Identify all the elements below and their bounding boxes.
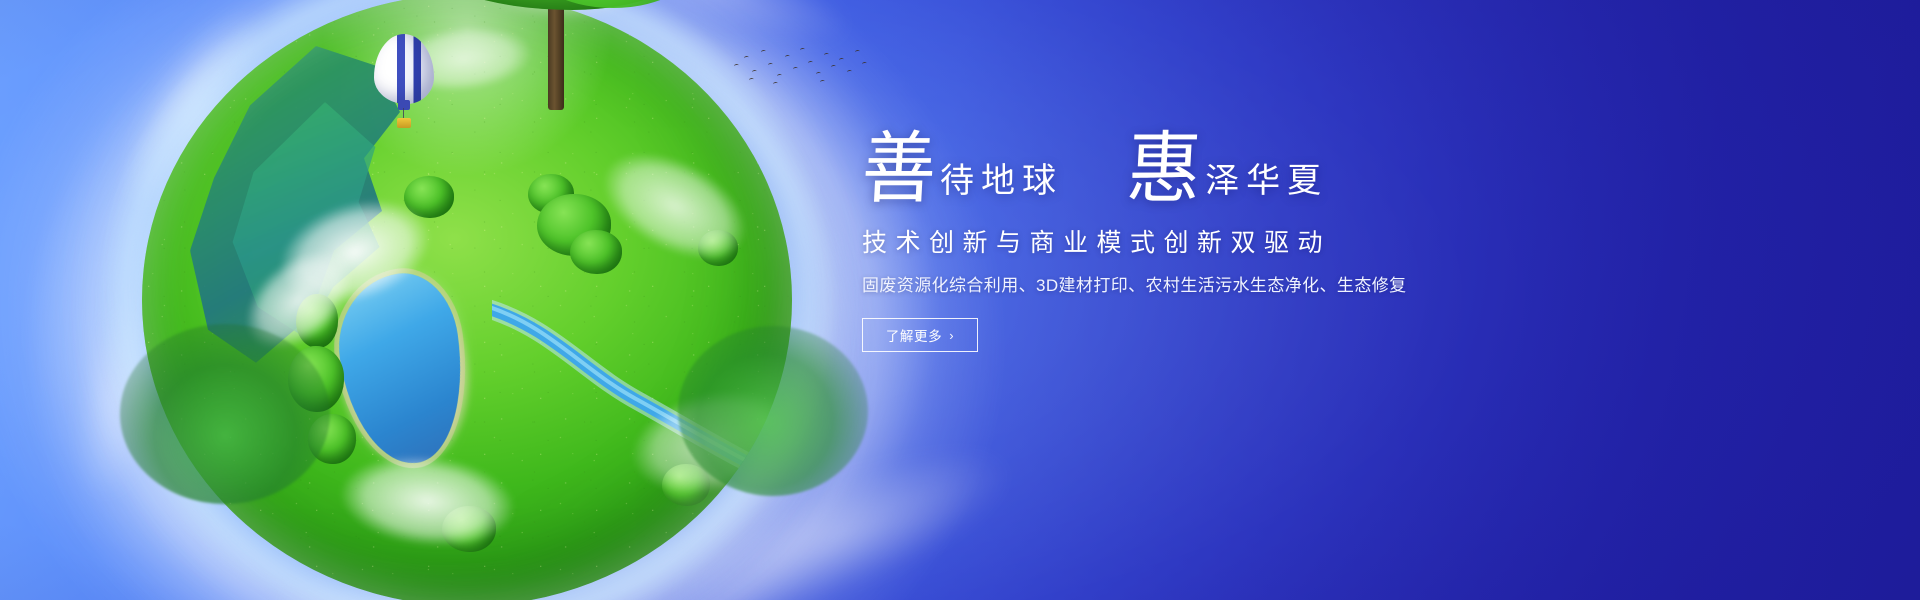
hero-headline: 善待地球 惠泽华夏 xyxy=(862,128,1642,220)
headline-segment-one: 善待地球 xyxy=(862,128,1063,210)
tree-canopy xyxy=(120,324,330,504)
globe-artwork xyxy=(142,0,792,600)
hero-description: 固废资源化综合利用、3D建材打印、农村生活污水生态净化、生态修复 xyxy=(862,273,1642,299)
learn-more-button[interactable]: 了解更多 › xyxy=(862,318,978,352)
tree-trunk xyxy=(548,0,564,110)
headline-segment-two: 惠泽华夏 xyxy=(1127,128,1328,210)
headline-calligraphy-char: 惠 xyxy=(1125,126,1204,213)
birds-flock-icon xyxy=(730,44,870,90)
learn-more-label: 了解更多 xyxy=(886,325,942,345)
bush-icon xyxy=(570,230,622,274)
headline-segment-rest: 待地球 xyxy=(940,128,1063,200)
silhouette-tree-icon xyxy=(678,326,868,556)
big-tree-icon xyxy=(410,0,710,132)
tree-canopy xyxy=(678,326,868,496)
balloon-envelope xyxy=(374,34,434,104)
balloon-basket xyxy=(397,118,411,128)
chevron-right-icon: › xyxy=(949,328,954,343)
hot-air-balloon-icon xyxy=(374,34,434,126)
headline-segment-rest: 泽华夏 xyxy=(1205,128,1328,200)
headline-calligraphy-char: 善 xyxy=(860,126,939,213)
hero-copy: 善待地球 惠泽华夏 技术创新与商业模式创新双驱动 固废资源化综合利用、3D建材打… xyxy=(862,128,1642,352)
silhouette-tree-icon xyxy=(120,324,330,564)
balloon-neck xyxy=(398,100,410,110)
hero-subtitle: 技术创新与商业模式创新双驱动 xyxy=(862,226,1642,260)
hero-banner: 善待地球 惠泽华夏 技术创新与商业模式创新双驱动 固废资源化综合利用、3D建材打… xyxy=(0,0,1920,600)
